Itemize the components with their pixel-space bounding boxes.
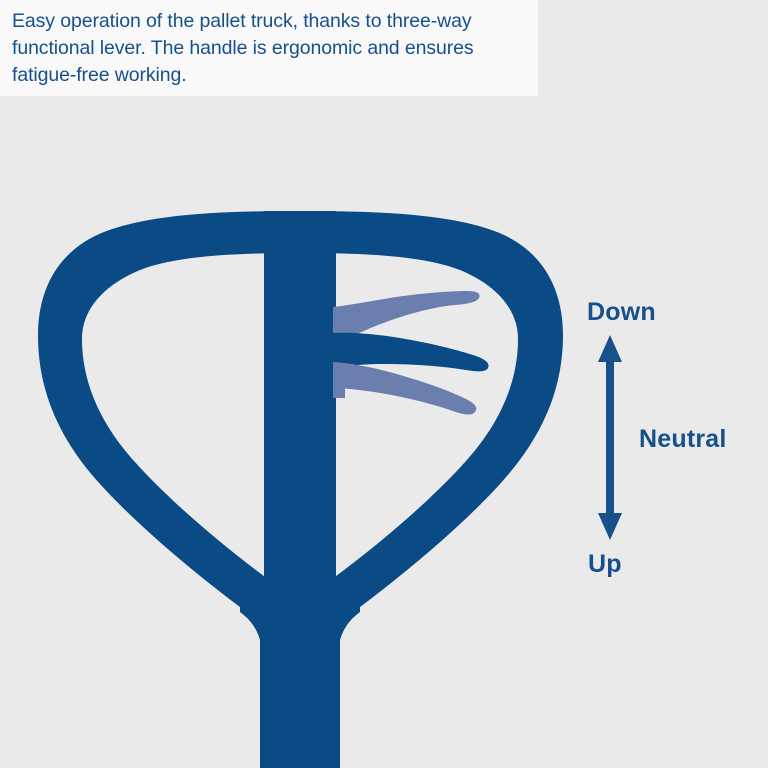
lever-finger-lower — [333, 362, 476, 415]
arrow-head-up — [598, 335, 622, 362]
arrow-shaft — [606, 345, 614, 530]
pallet-truck-handle-illustration — [0, 0, 768, 768]
lever-finger-lower-tab — [333, 373, 345, 398]
legend-label-down: Down — [587, 298, 656, 327]
diagram-canvas: Easy operation of the pallet truck, than… — [0, 0, 768, 768]
caption-text: Easy operation of the pallet truck, than… — [12, 8, 524, 89]
handle-center-column — [264, 211, 336, 626]
arrow-head-down — [598, 513, 622, 540]
caption-box: Easy operation of the pallet truck, than… — [0, 0, 538, 96]
handle-stem-column — [262, 606, 338, 768]
legend-label-up: Up — [588, 550, 622, 579]
legend-label-neutral: Neutral — [639, 425, 727, 454]
direction-arrow — [598, 335, 622, 540]
